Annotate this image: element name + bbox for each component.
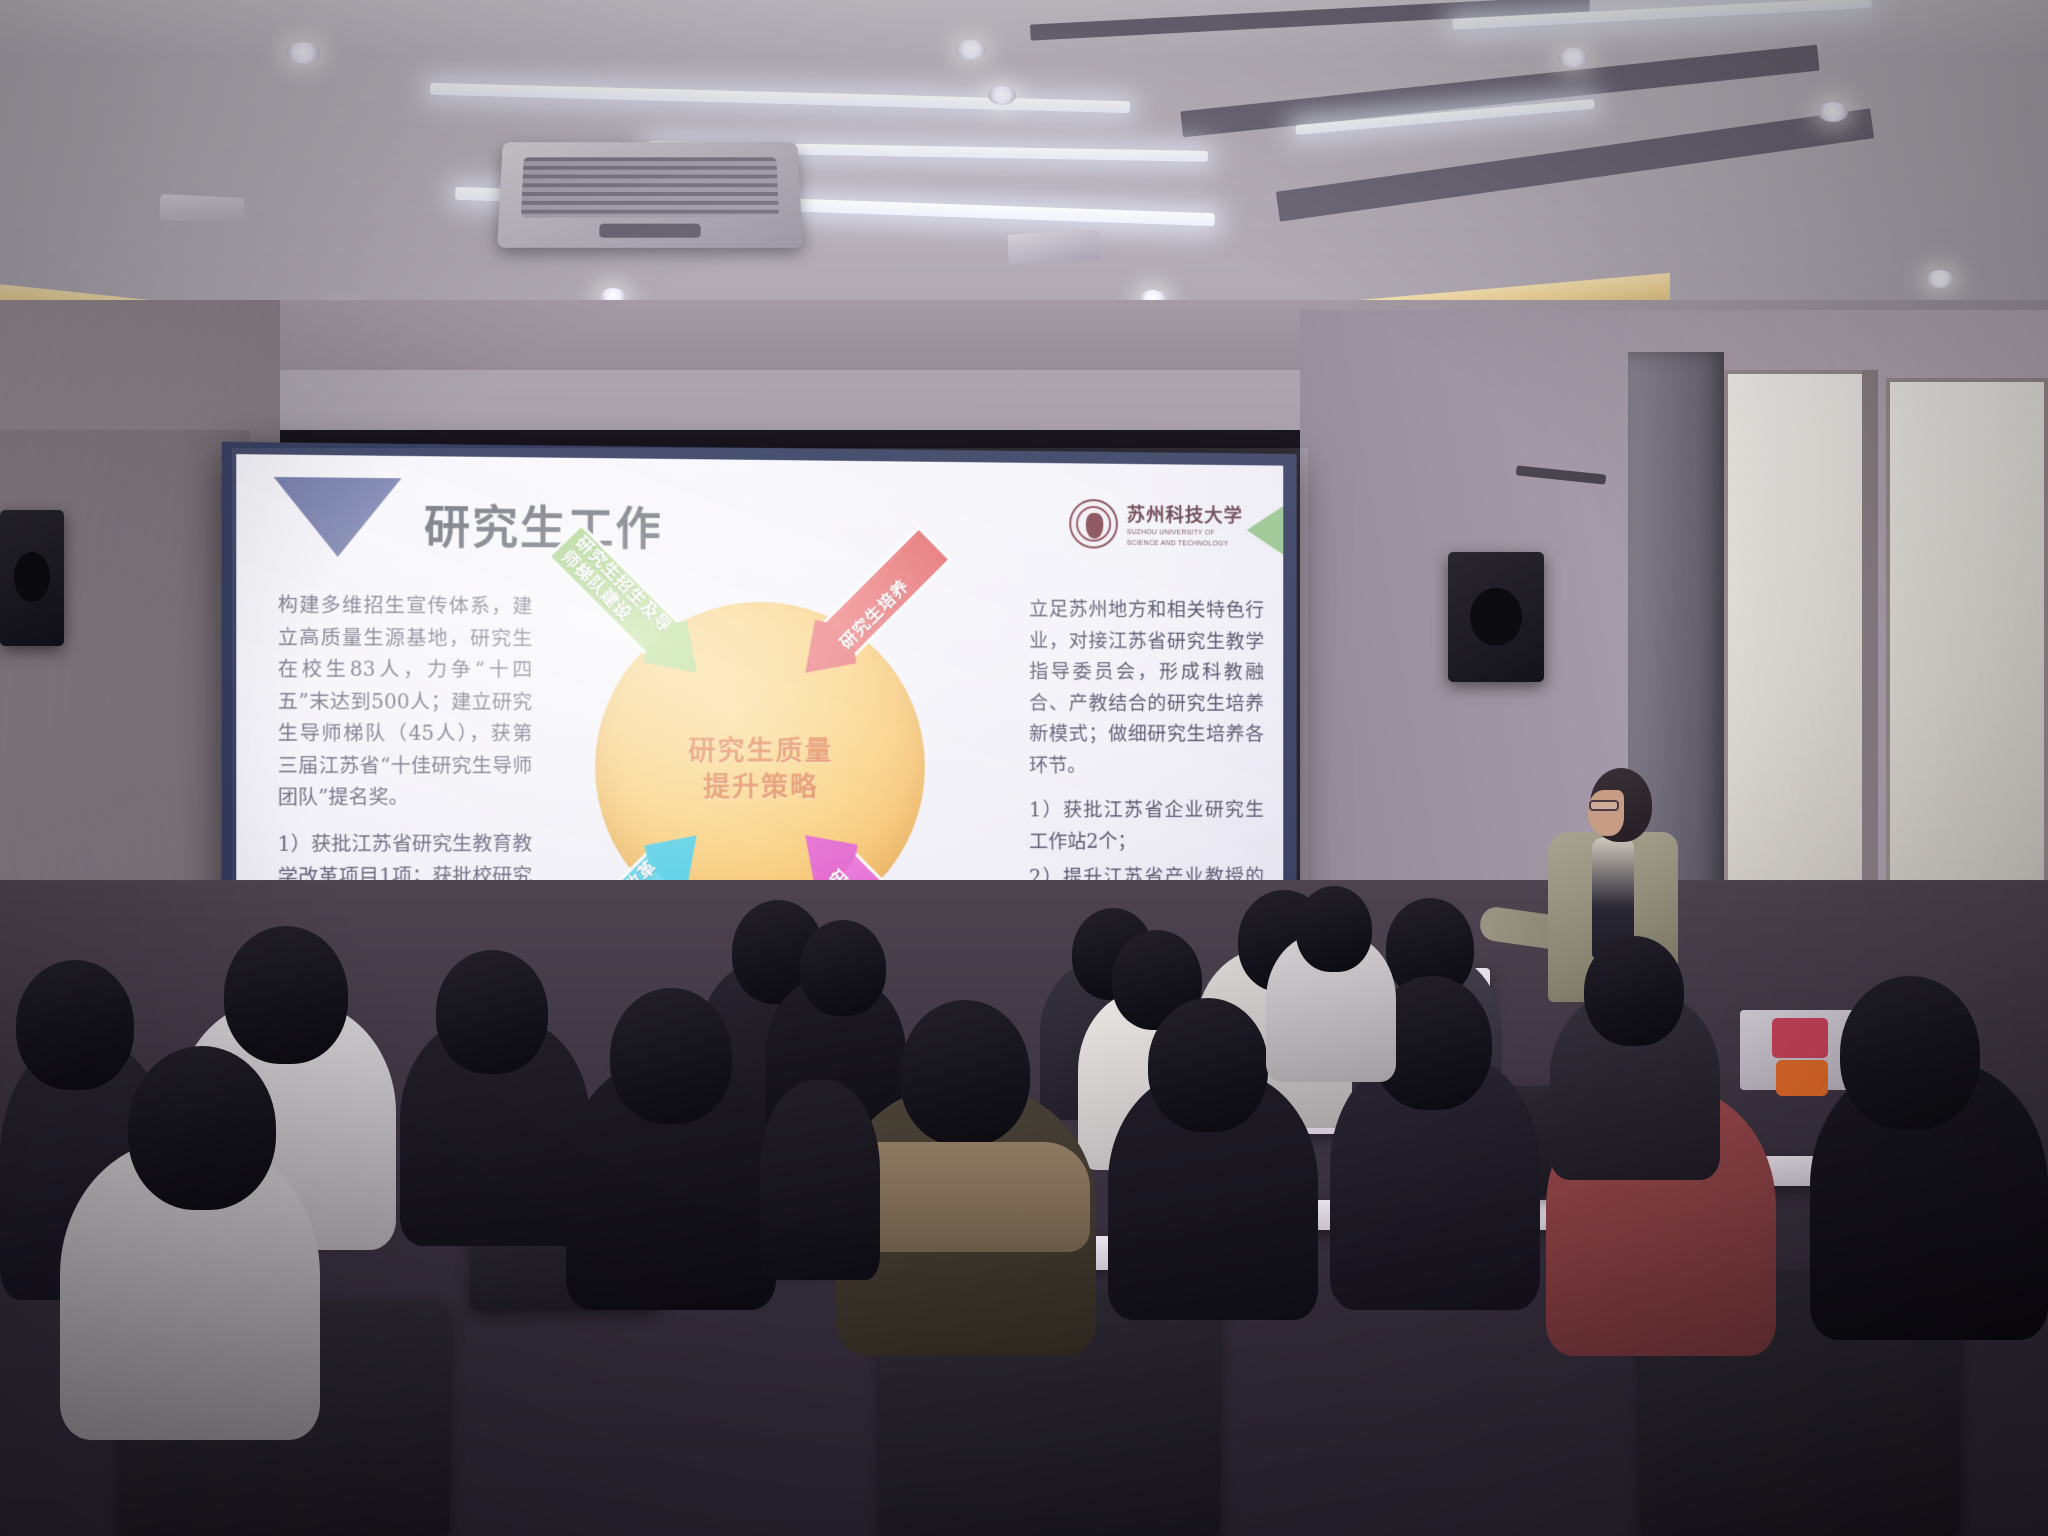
speaker-cone [1470,588,1522,646]
ceiling-light-strip [430,83,1130,113]
university-seal-icon [1069,499,1118,549]
audience-head [128,1046,276,1210]
ceiling-sensor-box [159,194,244,224]
audience-head [900,1000,1030,1146]
slide-green-triangle-icon [1247,505,1284,556]
audience-head [16,960,134,1090]
audience-head [1296,886,1372,972]
presenter-glasses-icon [1589,800,1619,811]
wall-speaker [1448,552,1544,682]
audience-head [800,920,886,1016]
ceiling-downlight [1926,270,1954,288]
speaker-cone [14,552,50,602]
ceiling-downlight [988,86,1016,105]
right-paragraph-1: 立足苏州地方和相关特色行业，对接江苏省研究生教学指导委员会，形成科教融合、产教结… [1029,594,1264,782]
ceiling-downlight [286,42,320,64]
right-paragraph-2: 1）获批江苏省企业研究生工作站2个； [1029,795,1264,858]
lecture-hall-photo: 研究生工作 苏州科技大学 SUZHOU UNIVERSITY OF SCIENC… [0,0,2048,1536]
university-name-en-2: SCIENCE AND TECHNOLOGY [1127,539,1243,549]
diagram-center-line2: 提升策略 [638,770,884,807]
ceiling-ac-unit [497,142,803,248]
window-mullion [1862,370,1878,930]
audience-head [224,926,348,1064]
orange-object [1776,1060,1828,1096]
university-name-en-1: SUZHOU UNIVERSITY OF [1127,529,1243,539]
ac-grille [521,157,779,217]
left-paragraph-1: 构建多维招生宣传体系，建立高质量生源基地，研究生在校生83人，力争“十四五”末达… [278,589,532,814]
window [1886,378,2048,934]
audience-head [1584,936,1684,1046]
slide-title: 研究生工作 [424,491,663,559]
audience-head [1148,998,1268,1132]
presenter-face [1588,790,1624,836]
university-logo: 苏州科技大学 SUZHOU UNIVERSITY OF SCIENCE AND … [1069,499,1243,550]
window [1724,370,1874,930]
wall-speaker [0,510,64,646]
diagram-center-line1: 研究生质量 [638,734,884,770]
ceiling-downlight [1818,102,1848,122]
slide-title-triangle-icon [274,477,402,557]
ceiling-downlight [956,40,986,60]
audience-head [436,950,548,1074]
audience-head [610,988,732,1124]
red-object [1772,1018,1828,1058]
left-wall-panel [0,430,250,910]
audience-body [760,1080,880,1280]
diagram-center-text: 研究生质量 提升策略 [638,734,884,807]
ac-vent [599,224,701,238]
ceiling-sensor-box [1007,230,1100,265]
university-name-cn: 苏州科技大学 [1127,500,1243,528]
audience-head [1840,976,1980,1130]
ceiling-downlight [1558,48,1588,68]
